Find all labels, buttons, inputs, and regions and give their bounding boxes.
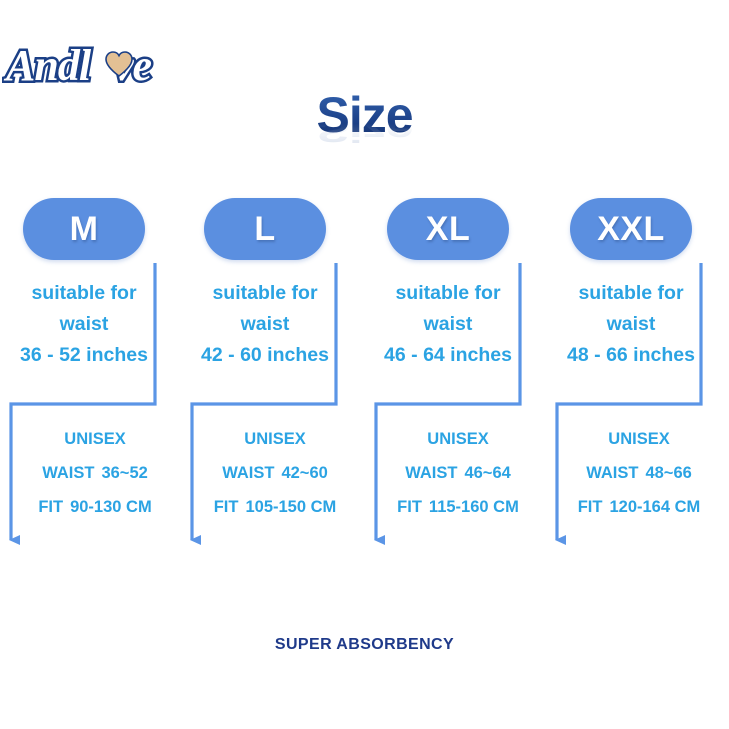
size-badge-xxl[interactable]: XXL: [570, 198, 692, 260]
detail-fit-l: FIT105-150 CM: [188, 490, 362, 524]
size-badge-xl[interactable]: XL: [387, 198, 509, 260]
detail-waist-value-l: 42~60: [281, 464, 327, 482]
size-badge-m[interactable]: M: [23, 198, 145, 260]
suitable-label-m-line2: waist: [0, 309, 171, 340]
detail-waist-value-xxl: 48~66: [645, 464, 691, 482]
detail-fit-key-l: FIT: [214, 498, 239, 516]
detail-waist-xl: WAIST46~64: [371, 456, 545, 490]
suitable-range-m: 36 - 52 inches: [0, 340, 171, 371]
suitable-block-l: suitable for waist 42 - 60 inches: [178, 278, 352, 371]
suitable-block-xl: suitable for waist 46 - 64 inches: [361, 278, 535, 371]
detail-block-l: UNISEX WAIST42~60 FIT105-150 CM: [188, 422, 362, 524]
detail-unisex-xl: UNISEX: [371, 422, 545, 456]
suitable-label-xxl-line2: waist: [544, 309, 718, 340]
detail-fit-key-xxl: FIT: [578, 498, 603, 516]
detail-fit-key-m: FIT: [38, 498, 63, 516]
detail-fit-xxl: FIT120-164 CM: [552, 490, 726, 524]
detail-waist-l: WAIST42~60: [188, 456, 362, 490]
suitable-label-xxl-line1: suitable for: [544, 278, 718, 309]
size-badge-l[interactable]: L: [204, 198, 326, 260]
suitable-range-xxl: 48 - 66 inches: [544, 340, 718, 371]
suitable-label-l-line1: suitable for: [178, 278, 352, 309]
detail-waist-key-l: WAIST: [222, 464, 274, 482]
suitable-block-xxl: suitable for waist 48 - 66 inches: [544, 278, 718, 371]
size-column-m: M suitable for waist 36 - 52 inches: [0, 198, 171, 371]
detail-waist-key-m: WAIST: [42, 464, 94, 482]
detail-block-xl: UNISEX WAIST46~64 FIT115-160 CM: [371, 422, 545, 524]
suitable-range-l: 42 - 60 inches: [178, 340, 352, 371]
detail-waist-key-xl: WAIST: [405, 464, 457, 482]
detail-fit-m: FIT90-130 CM: [8, 490, 182, 524]
suitable-range-xl: 46 - 64 inches: [361, 340, 535, 371]
detail-waist-xxl: WAIST48~66: [552, 456, 726, 490]
suitable-label-xl-line2: waist: [361, 309, 535, 340]
size-column-l: L suitable for waist 42 - 60 inches: [178, 198, 352, 371]
detail-waist-m: WAIST36~52: [8, 456, 182, 490]
detail-unisex-l: UNISEX: [188, 422, 362, 456]
detail-unisex-xxl: UNISEX: [552, 422, 726, 456]
svg-text:Andl: Andl: [3, 41, 92, 90]
detail-fit-value-m: 90-130 CM: [70, 498, 152, 516]
detail-unisex-m: UNISEX: [8, 422, 182, 456]
detail-block-xxl: UNISEX WAIST48~66 FIT120-164 CM: [552, 422, 726, 524]
detail-waist-value-m: 36~52: [101, 464, 147, 482]
detail-fit-value-xxl: 120-164 CM: [609, 498, 700, 516]
size-column-xl: XL suitable for waist 46 - 64 inches: [361, 198, 535, 371]
page-title: Size Size: [0, 86, 729, 166]
suitable-label-l-line2: waist: [178, 309, 352, 340]
detail-fit-xl: FIT115-160 CM: [371, 490, 545, 524]
footer-note: SUPER ABSORBENCY: [0, 636, 729, 654]
detail-fit-value-l: 105-150 CM: [245, 498, 336, 516]
suitable-block-m: suitable for waist 36 - 52 inches: [0, 278, 171, 371]
suitable-label-m-line1: suitable for: [0, 278, 171, 309]
detail-block-m: UNISEX WAIST36~52 FIT90-130 CM: [8, 422, 182, 524]
detail-waist-value-xl: 46~64: [464, 464, 510, 482]
detail-waist-key-xxl: WAIST: [586, 464, 638, 482]
page-title-reflection: Size: [0, 117, 729, 146]
detail-fit-key-xl: FIT: [397, 498, 422, 516]
detail-fit-value-xl: 115-160 CM: [429, 498, 519, 516]
suitable-label-xl-line1: suitable for: [361, 278, 535, 309]
size-column-xxl: XXL suitable for waist 48 - 66 inches: [544, 198, 718, 371]
size-chart-page: Andl ve Size Size M: [0, 0, 729, 729]
